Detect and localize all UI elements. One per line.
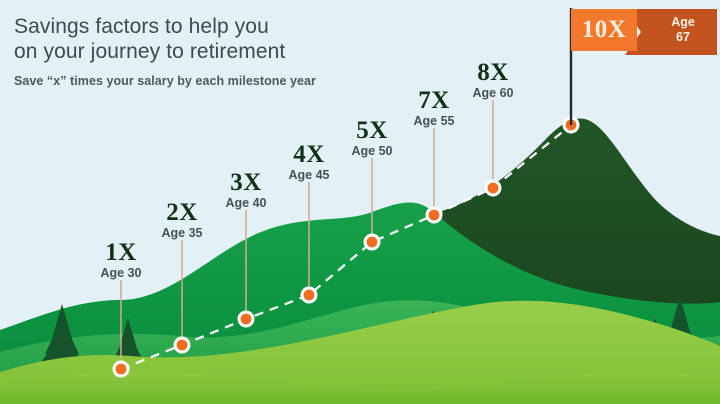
savings-factors-infographic: Savings factors to help you on your jour… [0,0,720,404]
milestone-label-age-35: 2X Age 35 [162,200,203,241]
header: Savings factors to help you on your jour… [14,14,316,88]
milestone-marker [113,361,130,378]
milestone-factor: 7X [414,88,455,113]
flag-factor-text: 10X [571,9,637,51]
milestone-label-age-60: 8X Age 60 [473,60,514,101]
milestone-age: Age 50 [352,144,393,159]
milestone-marker [174,337,191,354]
milestone-factor: 4X [289,142,330,167]
milestone-factor: 1X [101,240,142,265]
subtitle: Save “x” times your salary by each miles… [14,74,316,88]
milestone-marker [426,207,443,224]
milestone-age: Age 40 [226,196,267,211]
milestone-label-age-55: 7X Age 55 [414,88,455,129]
milestone-age: Age 55 [414,114,455,129]
milestone-age: Age 30 [101,266,142,281]
milestone-factor: 5X [352,118,393,143]
milestone-label-age-30: 1X Age 30 [101,240,142,281]
milestone-factor: 3X [226,170,267,195]
milestone-age: Age 45 [289,168,330,183]
milestone-factor: 8X [473,60,514,85]
milestone-age: Age 35 [162,226,203,241]
milestone-label-age-40: 3X Age 40 [226,170,267,211]
milestone-marker [238,311,255,328]
flag-age-label: Age [655,15,711,30]
title-line-2: on your journey to retirement [14,39,316,64]
milestone-label-age-50: 5X Age 50 [352,118,393,159]
flag-age-value: 67 [655,30,711,45]
flag-age-text: Age 67 [655,15,711,45]
title-line-1: Savings factors to help you [14,14,316,39]
page-title: Savings factors to help you on your jour… [14,14,316,64]
milestone-marker [485,180,502,197]
milestone-marker [364,234,381,251]
milestone-age: Age 60 [473,86,514,101]
flag-factor-block: 10X [571,9,637,51]
milestone-factor: 2X [162,200,203,225]
milestone-label-age-45: 4X Age 45 [289,142,330,183]
milestone-marker [301,287,318,304]
